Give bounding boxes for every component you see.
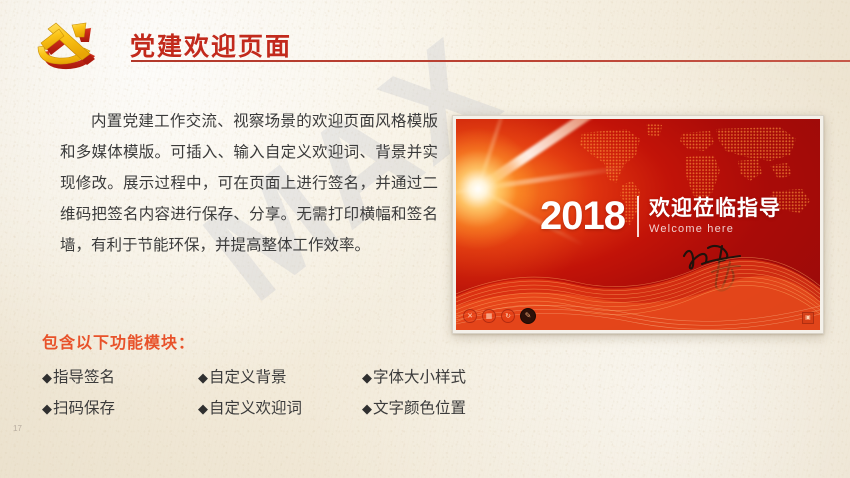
welcome-message-cn: 欢迎莅临指导 xyxy=(649,196,781,221)
diamond-bullet-icon: ◆ xyxy=(198,402,208,417)
party-emblem-icon xyxy=(28,16,116,72)
diamond-bullet-icon: ◆ xyxy=(198,371,208,386)
diamond-bullet-icon: ◆ xyxy=(362,371,372,386)
close-tool-button[interactable]: ✕ xyxy=(463,309,477,323)
module-label: 字体大小样式 xyxy=(373,368,466,386)
module-item: ◆指导签名 xyxy=(42,365,198,387)
modules-heading: 包含以下功能模块： xyxy=(42,329,195,353)
module-label: 自定义欢迎词 xyxy=(209,399,302,417)
diamond-bullet-icon: ◆ xyxy=(42,402,52,417)
preview-toolbar[interactable]: ✕ ▦ ↻ ✎ xyxy=(463,308,536,324)
module-label: 指导签名 xyxy=(53,368,115,386)
page-title: 党建欢迎页面 xyxy=(130,27,292,63)
refresh-tool-button[interactable]: ↻ xyxy=(501,309,515,323)
pen-tool-button[interactable]: ✎ xyxy=(520,308,536,324)
qrcode-tool-button[interactable]: ▦ xyxy=(482,309,496,323)
fullscreen-tool-button[interactable]: ▣ xyxy=(802,312,814,324)
module-label: 自定义背景 xyxy=(209,368,287,386)
module-item: ◆自定义欢迎词 xyxy=(198,396,362,418)
diamond-bullet-icon: ◆ xyxy=(362,402,372,417)
welcome-screen-canvas: 2018 欢迎莅临指导 Welcome here xyxy=(456,119,820,330)
slide-canvas: MAX xyxy=(0,0,850,478)
headline-text-group: 欢迎莅临指导 Welcome here xyxy=(649,195,781,235)
module-label: 扫码保存 xyxy=(53,399,115,417)
diamond-bullet-icon: ◆ xyxy=(42,371,52,386)
modules-grid: ◆指导签名 ◆自定义背景 ◆字体大小样式 ◆扫码保存 ◆自定义欢迎词 ◆文字颜色… xyxy=(42,360,502,422)
slide-header: 党建欢迎页面 xyxy=(0,0,850,80)
headline-divider xyxy=(637,196,639,237)
welcome-message-en: Welcome here xyxy=(649,223,781,235)
page-number: 17 xyxy=(13,424,22,433)
module-item: ◆自定义背景 xyxy=(198,365,362,387)
welcome-headline: 2018 欢迎莅临指导 Welcome here xyxy=(540,195,781,237)
description-paragraph: 内置党建工作交流、视察场景的欢迎页面风格模版和多媒体模版。可插入、输入自定义欢迎… xyxy=(60,106,438,261)
module-item: ◆文字颜色位置 xyxy=(362,396,502,418)
year-label: 2018 xyxy=(540,195,625,237)
module-label: 文字颜色位置 xyxy=(373,399,466,417)
module-item: ◆扫码保存 xyxy=(42,396,198,418)
title-underline-rule xyxy=(131,60,850,62)
welcome-screen-preview: 2018 欢迎莅临指导 Welcome here xyxy=(452,115,824,334)
module-item: ◆字体大小样式 xyxy=(362,365,502,387)
